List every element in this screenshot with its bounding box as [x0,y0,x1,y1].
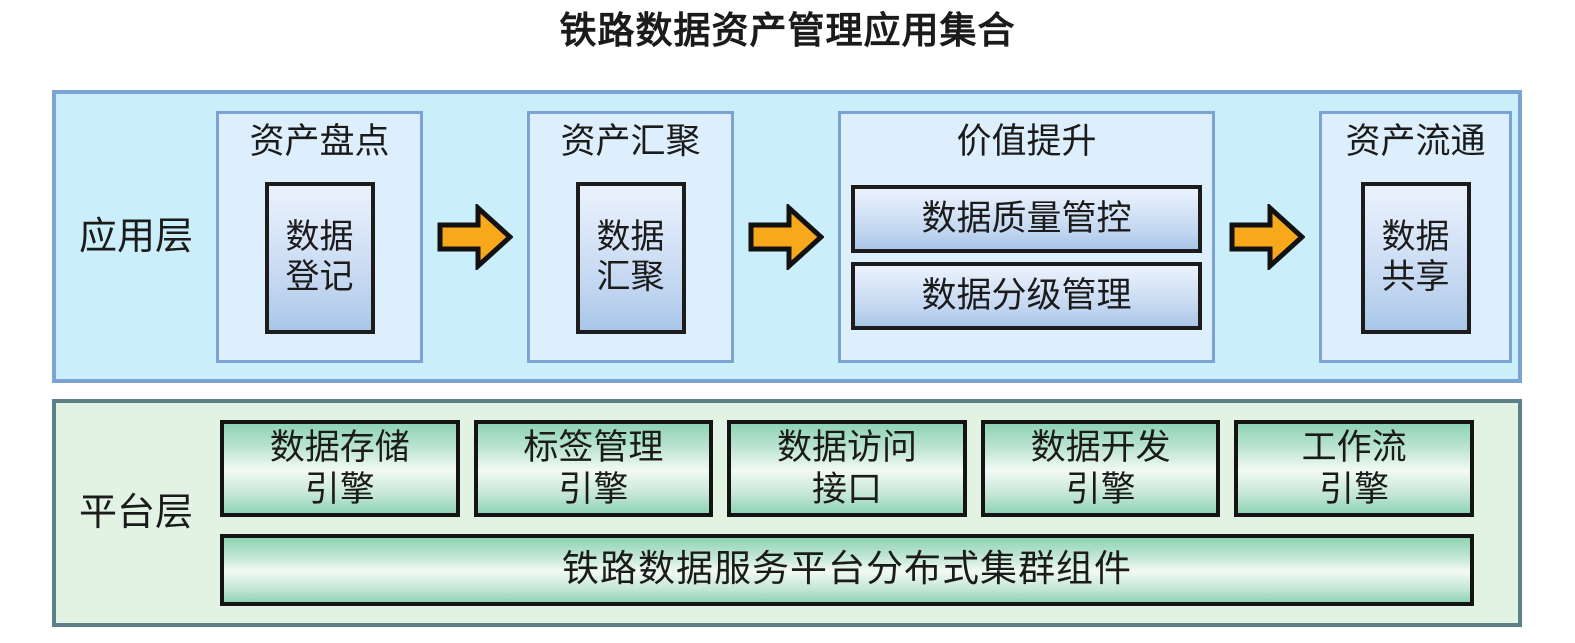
app-group-value-enhancement[interactable]: 价值提升 数据质量管控 数据分级管理 [838,111,1215,363]
arrow-right-icon-2 [748,204,824,270]
tile-data-aggregation-line1: 数据 [597,218,665,258]
engine-data-development[interactable]: 数据开发 引擎 [981,420,1221,517]
app-group-title-asset-aggregation: 资产汇聚 [560,118,700,166]
arrow-right-icon-3 [1229,204,1305,270]
tile-data-registration-line2: 登记 [286,258,354,298]
tile-data-classification-management[interactable]: 数据分级管理 [851,262,1202,330]
application-layer-content: 资产盘点 数据 登记 [216,94,1518,379]
platform-layer-band: 平台层 数据存储 引擎 标签管理 引擎 数据访 [52,399,1522,627]
engine-workflow-line1: 工作流 [1302,427,1407,469]
app-group-title-value-enhancement: 价值提升 [956,118,1096,166]
tile-data-aggregation-line2: 汇聚 [597,258,665,298]
app-group-body-value-enhancement: 数据质量管控 数据分级管理 [851,168,1202,348]
engine-data-storage-line1: 数据存储 [270,427,410,469]
app-group-body-asset-circulation: 数据 共享 [1332,168,1499,348]
platform-layer-content: 数据存储 引擎 标签管理 引擎 数据访问 接口 [216,403,1518,623]
app-group-body-asset-aggregation: 数据 汇聚 [540,168,721,348]
application-layer-band: 应用层 资产盘点 数据 登记 [52,90,1522,383]
app-group-asset-aggregation[interactable]: 资产汇聚 数据 汇聚 [527,111,734,363]
tile-data-aggregation[interactable]: 数据 汇聚 [576,182,686,334]
engine-data-access-line2: 接口 [777,469,917,511]
tile-data-registration-line1: 数据 [286,218,354,258]
tile-data-sharing-line2: 共享 [1382,258,1450,298]
engine-data-development-line2: 引擎 [1031,469,1171,511]
tile-data-sharing-line1: 数据 [1382,218,1450,258]
engine-tag-management[interactable]: 标签管理 引擎 [474,420,714,517]
app-group-title-asset-circulation: 资产流通 [1345,118,1485,166]
engine-data-storage[interactable]: 数据存储 引擎 [220,420,460,517]
platform-layer-label: 平台层 [56,491,216,535]
engine-data-storage-line2: 引擎 [270,469,410,511]
app-group-asset-inventory[interactable]: 资产盘点 数据 登记 [216,111,423,363]
app-group-body-asset-inventory: 数据 登记 [229,168,410,348]
app-group-asset-circulation[interactable]: 资产流通 数据 共享 [1319,111,1512,363]
engine-data-access-interface[interactable]: 数据访问 接口 [727,420,967,517]
tile-data-registration[interactable]: 数据 登记 [265,182,375,334]
engine-tag-management-line2: 引擎 [523,469,663,511]
platform-cluster-component-bar[interactable]: 铁路数据服务平台分布式集群组件 [220,534,1474,606]
engine-workflow-line2: 引擎 [1302,469,1407,511]
app-group-title-asset-inventory: 资产盘点 [249,118,389,166]
engine-data-development-line1: 数据开发 [1031,427,1171,469]
engine-data-access-line1: 数据访问 [777,427,917,469]
page-title: 铁路数据资产管理应用集合 [0,8,1575,56]
tile-data-sharing[interactable]: 数据 共享 [1361,182,1471,334]
tile-data-quality-control[interactable]: 数据质量管控 [851,185,1202,253]
diagram-canvas: 铁路数据资产管理应用集合 应用层 资产盘点 数据 登记 [0,0,1575,643]
engine-workflow[interactable]: 工作流 引擎 [1234,420,1474,517]
arrow-right-icon-1 [437,204,513,270]
platform-engine-row: 数据存储 引擎 标签管理 引擎 数据访问 接口 [220,420,1474,517]
application-layer-label: 应用层 [56,215,216,259]
engine-tag-management-line1: 标签管理 [523,427,663,469]
